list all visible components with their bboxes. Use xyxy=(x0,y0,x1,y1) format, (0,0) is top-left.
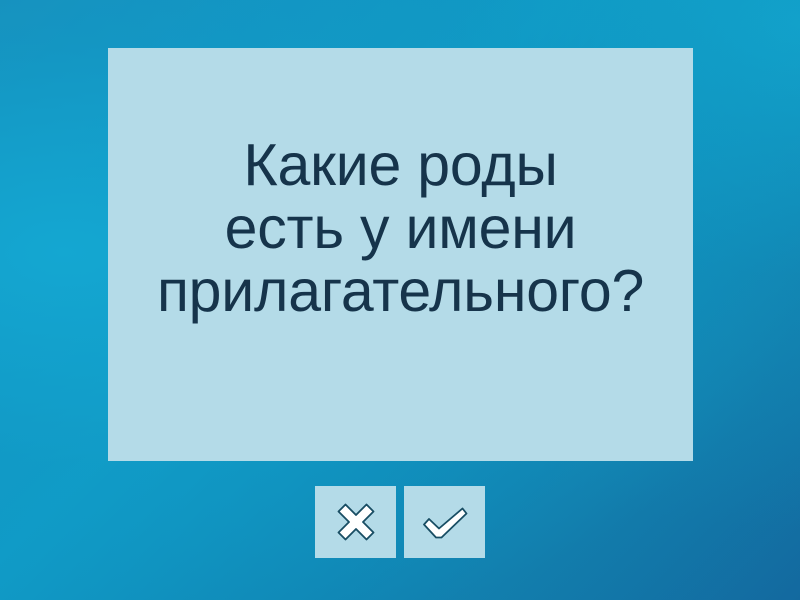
quiz-slide: Какие роды есть у имени прилагательного? xyxy=(0,0,800,600)
incorrect-answer-button[interactable] xyxy=(315,486,396,558)
check-icon xyxy=(418,495,472,549)
answer-buttons xyxy=(315,486,485,558)
question-text: Какие роды есть у имени прилагательного? xyxy=(108,134,693,323)
correct-answer-button[interactable] xyxy=(404,486,485,558)
question-line-1: Какие роды xyxy=(108,134,693,197)
question-line-3: прилагательного? xyxy=(108,260,693,323)
cross-icon xyxy=(329,495,383,549)
question-card: Какие роды есть у имени прилагательного? xyxy=(108,48,693,461)
question-line-2: есть у имени xyxy=(108,197,693,260)
